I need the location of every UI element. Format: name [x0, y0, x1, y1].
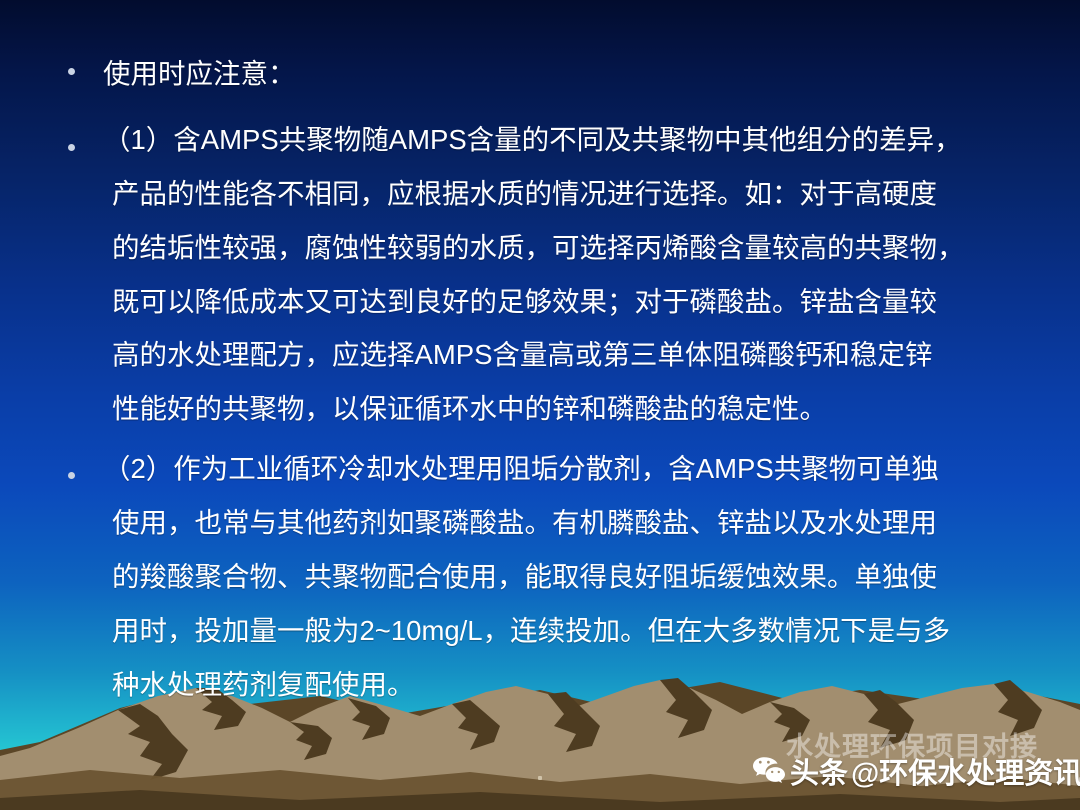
paragraph-line: 的羧酸聚合物、共聚物配合使用，能取得良好阻垢缓蚀效果。单独使	[112, 563, 937, 591]
paragraph-line: 使用，也常与其他药剂如聚磷酸盐。有机膦酸盐、锌盐以及水处理用	[112, 509, 937, 537]
paragraph-line: （2）作为工业循环冷却水处理用阻垢分散剂，含AMPS共聚物可单独	[103, 455, 939, 483]
bullet-dot-icon	[68, 144, 75, 151]
paragraph-line: 产品的性能各不相同，应根据水质的情况进行选择。如：对于高硬度	[112, 180, 937, 208]
watermark: 头条 @环保水处理资讯	[752, 756, 1080, 792]
paragraph-line: 用时，投加量一般为2~10mg/L，连续投加。但在大多数情况下是与多	[112, 617, 950, 645]
watermark-logo-label: 头条	[790, 760, 848, 789]
slide-text-content: 使用时应注意： （1）含AMPS共聚物随AMPS含量的不同及共聚物中其他组分的差…	[0, 0, 1080, 810]
wechat-icon	[752, 756, 786, 786]
paragraph-line: （1）含AMPS共聚物随AMPS含量的不同及共聚物中其他组分的差异，	[103, 126, 962, 154]
list-item	[68, 68, 75, 75]
paragraph-line: 既可以降低成本又可达到良好的足够效果；对于磷酸盐。锌盐含量较	[112, 288, 937, 316]
paragraph-line: 种水处理药剂复配使用。	[112, 671, 415, 699]
list-item	[68, 144, 75, 151]
presentation-slide: 使用时应注意： （1）含AMPS共聚物随AMPS含量的不同及共聚物中其他组分的差…	[0, 0, 1080, 810]
paragraph-line: 使用时应注意：	[103, 60, 296, 88]
bullet-dot-icon	[68, 472, 75, 479]
bullet-dot-icon	[68, 68, 75, 75]
paragraph-line: 性能好的共聚物，以保证循环水中的锌和磷酸盐的稳定性。	[112, 395, 827, 423]
paragraph-line: 的结垢性较强，腐蚀性较弱的水质，可选择丙烯酸含量较高的共聚物，	[112, 234, 965, 262]
paragraph-line: 高的水处理配方，应选择AMPS含量高或第三单体阻磷酸钙和稳定锌	[112, 341, 932, 369]
list-item	[68, 472, 75, 479]
stray-period-mark	[538, 776, 542, 780]
watermark-handle: @环保水处理资讯	[851, 760, 1080, 789]
